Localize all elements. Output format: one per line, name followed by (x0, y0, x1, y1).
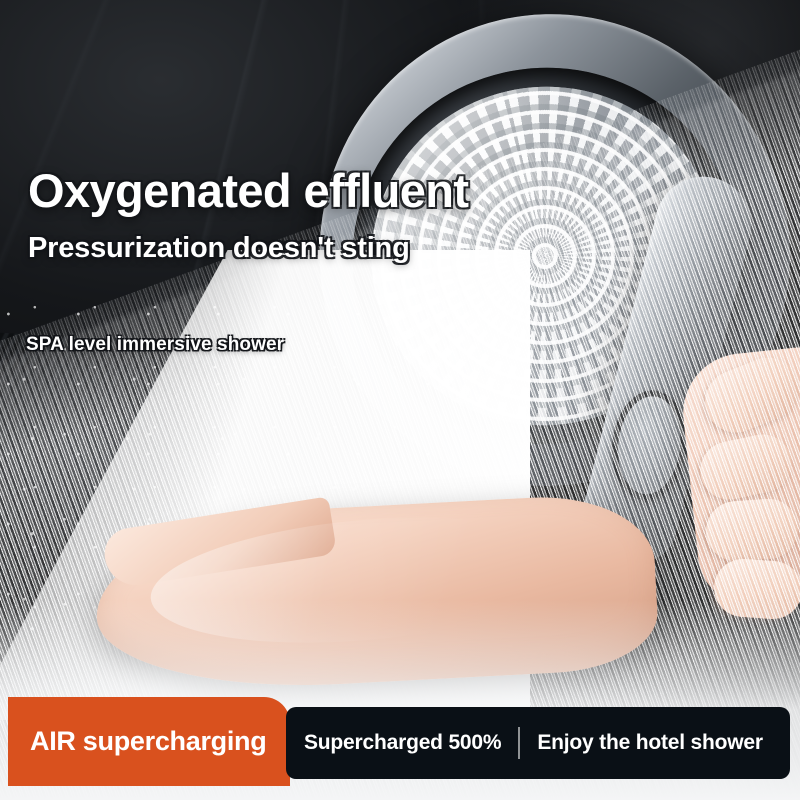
product-marketing-image: Oxygenated effluent Pressurization doesn… (0, 0, 800, 800)
feature-hotel-shower: Enjoy the hotel shower (537, 731, 762, 755)
feature-panel: Supercharged 500% Enjoy the hotel shower (286, 707, 790, 779)
feature-divider (518, 727, 520, 759)
feature-supercharged: Supercharged 500% (304, 731, 501, 755)
badge-label: AIR supercharging (30, 726, 266, 757)
air-supercharging-badge: AIR supercharging (8, 697, 290, 786)
bottom-banner: AIR supercharging Supercharged 500% Enjo… (0, 0, 800, 800)
